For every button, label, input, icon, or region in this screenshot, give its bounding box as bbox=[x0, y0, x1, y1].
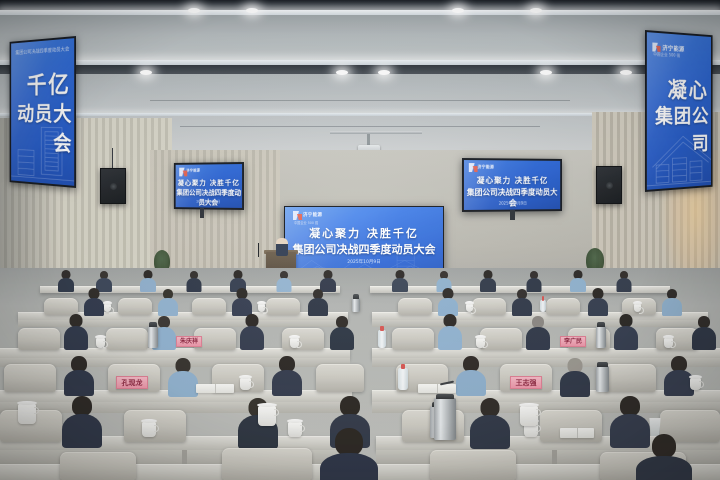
company-logo-mark bbox=[179, 168, 184, 174]
chair bbox=[192, 298, 226, 315]
teacup bbox=[240, 378, 251, 390]
teacup bbox=[258, 406, 276, 426]
attendee bbox=[560, 358, 590, 394]
ceiling-spotlight bbox=[530, 8, 542, 13]
name-card: 孔现龙 bbox=[116, 376, 148, 389]
audience-area: 朱庆祥 李广民 bbox=[0, 268, 720, 480]
attendee bbox=[320, 270, 336, 290]
attendee bbox=[662, 289, 682, 314]
monitor-right-logo: 济宁能源 bbox=[469, 163, 494, 170]
conference-hall-photo: 集团公司决战四季度动员大会 千亿 动员大会 济宁能源 中国企业 500 强 凝心… bbox=[0, 0, 720, 480]
attendee bbox=[480, 270, 496, 290]
attendee bbox=[240, 314, 264, 348]
attendee bbox=[186, 271, 201, 290]
left-screen-top-text: 集团公司决战四季度动员大会 bbox=[11, 45, 74, 56]
attendee bbox=[308, 289, 328, 314]
attendee bbox=[438, 314, 462, 348]
monitor-right-headline: 凝心聚力 决胜千亿 bbox=[464, 175, 560, 186]
chair bbox=[430, 450, 516, 480]
ceiling-spotlight bbox=[452, 8, 464, 13]
led-screen-left[interactable]: 集团公司决战四季度动员大会 千亿 动员大会 bbox=[10, 36, 76, 188]
ceiling-panel-2 bbox=[0, 74, 720, 116]
attendee bbox=[230, 270, 246, 290]
water-bottle bbox=[540, 300, 546, 312]
monitor-left-subhead: 集团公司决战四季度动员大会 bbox=[176, 188, 242, 208]
ceiling-spotlight bbox=[336, 70, 348, 75]
company-logo-mark bbox=[293, 211, 301, 219]
ceiling-spotlight bbox=[620, 70, 632, 75]
ceiling-seam bbox=[150, 100, 570, 101]
ceiling-spotlight bbox=[246, 8, 258, 13]
water-bottle bbox=[378, 330, 386, 348]
monitor-right-stand bbox=[510, 210, 515, 220]
attendee bbox=[64, 356, 94, 394]
teacup bbox=[104, 304, 111, 312]
thermos bbox=[434, 398, 456, 440]
chair bbox=[266, 298, 300, 315]
wall-speaker-right bbox=[596, 166, 622, 204]
attendee bbox=[62, 396, 102, 444]
monitor-left-logo-text: 济宁能源 bbox=[186, 168, 200, 173]
left-screen-headline-1: 千亿 bbox=[11, 64, 74, 100]
attendee bbox=[84, 288, 104, 314]
attendee bbox=[526, 316, 550, 348]
attendee-foreground bbox=[320, 428, 378, 480]
teacup bbox=[690, 378, 701, 390]
projector-rail bbox=[330, 131, 422, 134]
speaker-cable bbox=[112, 148, 113, 170]
notebook bbox=[196, 384, 234, 393]
attendee bbox=[58, 270, 74, 290]
teacup bbox=[290, 338, 299, 348]
chair bbox=[472, 298, 506, 315]
teacup bbox=[18, 404, 36, 424]
attendee bbox=[276, 271, 291, 290]
chair bbox=[44, 298, 78, 315]
attendee bbox=[470, 398, 510, 444]
teacup bbox=[258, 304, 265, 312]
ceiling-panel-1 bbox=[0, 15, 720, 63]
teacup bbox=[142, 422, 156, 437]
teacup bbox=[664, 338, 673, 348]
attendee bbox=[392, 270, 408, 290]
teacup bbox=[520, 406, 538, 426]
name-card-text: 王志强 bbox=[511, 377, 541, 387]
chair bbox=[546, 298, 580, 315]
chair bbox=[222, 448, 312, 480]
attendee bbox=[614, 314, 638, 348]
wall-speaker-left bbox=[100, 168, 126, 204]
monitor-right-logo-text: 济宁能源 bbox=[478, 164, 495, 170]
name-card: 朱庆祥 bbox=[176, 336, 202, 347]
led-screen-right[interactable]: 济宁能源 中国企业 500 强 凝心 集团公司 bbox=[645, 30, 713, 192]
monitor-left-stand bbox=[200, 208, 204, 218]
attendee bbox=[570, 270, 586, 290]
monitor-left-headline: 凝心聚力 决胜千亿 bbox=[176, 178, 242, 188]
attendee bbox=[512, 289, 532, 314]
chair bbox=[392, 328, 434, 350]
monitor-right[interactable]: 济宁能源 凝心聚力 决胜千亿 集团公司决战四季度动员大会 2025年10月9日 bbox=[462, 158, 562, 212]
teacup bbox=[288, 422, 302, 437]
attendee bbox=[140, 270, 156, 290]
attendee bbox=[168, 358, 198, 394]
water-bottle bbox=[398, 368, 408, 390]
attendee bbox=[64, 314, 88, 348]
chair bbox=[118, 298, 152, 315]
monitor-left-logo: 济宁能源 bbox=[179, 167, 200, 173]
thermos bbox=[596, 366, 609, 392]
main-screen-date: 2025年10月9日 bbox=[285, 259, 443, 265]
chair bbox=[106, 328, 148, 350]
teacup bbox=[476, 338, 485, 348]
main-screen-subhead: 集团公司决战四季度动员大会 bbox=[285, 241, 443, 257]
attendee bbox=[526, 271, 541, 290]
attendee bbox=[456, 356, 486, 394]
microphone-stand bbox=[258, 243, 259, 257]
name-card: 王志强 bbox=[510, 376, 542, 389]
chair bbox=[18, 328, 60, 350]
chair bbox=[604, 364, 656, 392]
chair bbox=[398, 298, 432, 315]
attendee bbox=[438, 288, 458, 314]
thermos bbox=[148, 326, 158, 348]
thermos bbox=[352, 298, 360, 312]
attendee bbox=[232, 288, 252, 314]
attendee bbox=[272, 356, 302, 394]
attendee bbox=[692, 316, 716, 348]
teacup bbox=[96, 338, 105, 348]
right-screen-headline-2: 集团公司 bbox=[647, 100, 711, 158]
attendee bbox=[616, 271, 631, 290]
ceiling-spotlight bbox=[140, 70, 152, 75]
monitor-left-date: 2025年10月9日 bbox=[176, 199, 242, 205]
ceiling-spotlight bbox=[378, 70, 390, 75]
name-card-text: 朱庆祥 bbox=[177, 337, 201, 345]
ceiling-spotlight bbox=[540, 70, 552, 75]
main-screen-logo: 济宁能源 bbox=[293, 211, 322, 219]
chair bbox=[282, 328, 324, 350]
ceiling-seam bbox=[180, 126, 540, 127]
teacup bbox=[466, 304, 473, 312]
attendee-foreground bbox=[636, 434, 692, 480]
name-card: 李广民 bbox=[560, 336, 586, 347]
right-screen-logo-sub: 中国企业 500 强 bbox=[653, 51, 680, 58]
ceiling-spotlight bbox=[188, 8, 200, 13]
thermos bbox=[596, 326, 606, 348]
chair bbox=[316, 364, 364, 392]
teacup bbox=[634, 304, 641, 312]
attendee bbox=[158, 289, 178, 314]
chair bbox=[4, 364, 56, 392]
main-screen-logo-text: 济宁能源 bbox=[303, 212, 322, 218]
notebook bbox=[560, 428, 594, 438]
company-logo-mark bbox=[652, 42, 660, 51]
monitor-right-date: 2025年10月9日 bbox=[464, 200, 560, 207]
company-logo-mark bbox=[469, 163, 476, 170]
name-card-text: 孔现龙 bbox=[117, 377, 147, 387]
left-screen-headline-2: 动员大会 bbox=[11, 98, 74, 158]
attendee bbox=[588, 288, 608, 314]
name-card-text: 李广民 bbox=[561, 337, 585, 345]
main-screen-headline: 凝心聚力 决胜千亿 bbox=[285, 225, 443, 241]
attendee bbox=[330, 316, 354, 348]
notebook bbox=[418, 384, 456, 393]
chair bbox=[60, 452, 136, 480]
podium-speaker bbox=[276, 238, 288, 256]
monitor-left[interactable]: 济宁能源 凝心聚力 决胜千亿 集团公司决战四季度动员大会 2025年10月9日 bbox=[174, 162, 244, 210]
